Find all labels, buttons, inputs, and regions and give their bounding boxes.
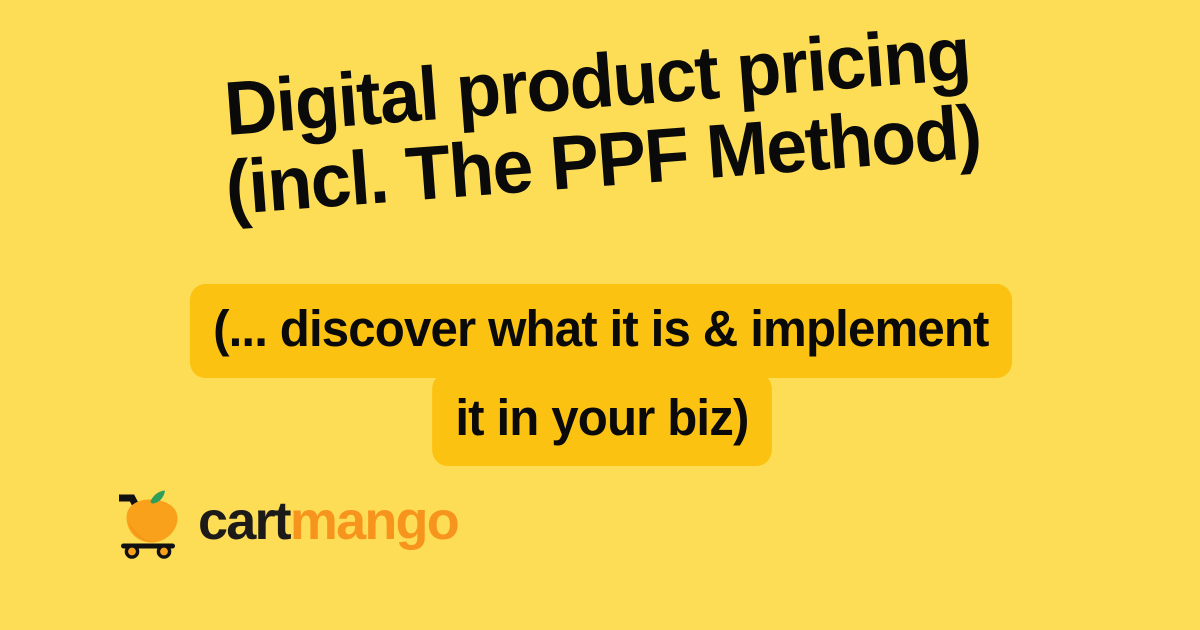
mango-shopping-cart-icon xyxy=(116,487,184,559)
subtitle-row-1: (... discover what it is & implement xyxy=(0,284,1200,378)
title-line-2: (incl. The PPF Method) xyxy=(23,80,1183,242)
subtitle: (... discover what it is & implement it … xyxy=(0,284,1200,466)
brand-logo[interactable]: cartmango xyxy=(116,487,458,559)
page-title: Digital product pricing (incl. The PPF M… xyxy=(0,0,1200,243)
subtitle-line-2: it in your biz) xyxy=(432,373,771,467)
brand-wordmark: cartmango xyxy=(198,494,458,548)
subtitle-line-1: (... discover what it is & implement xyxy=(190,284,1012,378)
brand-wordmark-cart: cart xyxy=(198,494,290,548)
brand-wordmark-mango: mango xyxy=(290,494,458,548)
title-line-1: Digital product pricing xyxy=(17,1,1177,163)
subtitle-row-2: it in your biz) xyxy=(0,373,1200,467)
social-card-canvas: Digital product pricing (incl. The PPF M… xyxy=(0,0,1200,630)
